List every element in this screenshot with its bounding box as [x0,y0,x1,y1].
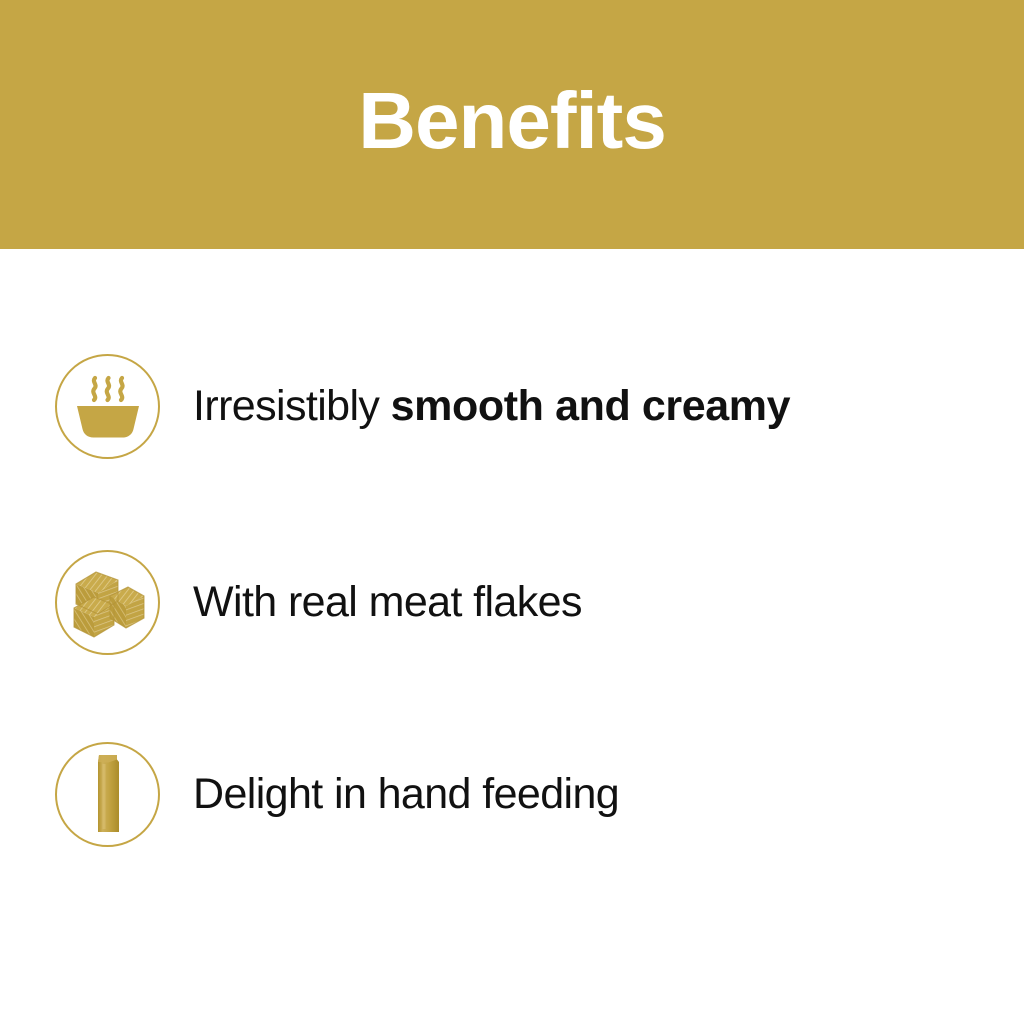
benefit-label: With real meat flakes [193,580,582,625]
benefit-label: Irresistibly smooth and creamy [193,384,790,429]
benefit-label: Delight in hand feeding [193,772,619,817]
benefit-icon-circle [55,354,160,459]
benefit-row: With real meat flakes [55,550,985,655]
benefit-icon-circle [55,742,160,847]
header-band: Benefits [0,0,1024,249]
page-title: Benefits [358,81,666,161]
meat-cubes-icon [70,566,146,640]
steaming-bowl-icon [72,374,144,440]
benefit-label-regular: Irresistibly [193,382,391,430]
benefit-icon-circle [55,550,160,655]
benefits-list: Irresistibly smooth and creamy [0,249,1024,1024]
sachet-stick-icon [88,753,128,837]
benefit-label-bold: smooth and creamy [391,382,790,430]
benefit-row: Irresistibly smooth and creamy [55,354,985,459]
benefit-row: Delight in hand feeding [55,742,985,847]
benefit-label-regular: With real meat flakes [193,578,582,626]
benefit-label-regular: Delight in hand feeding [193,770,619,818]
